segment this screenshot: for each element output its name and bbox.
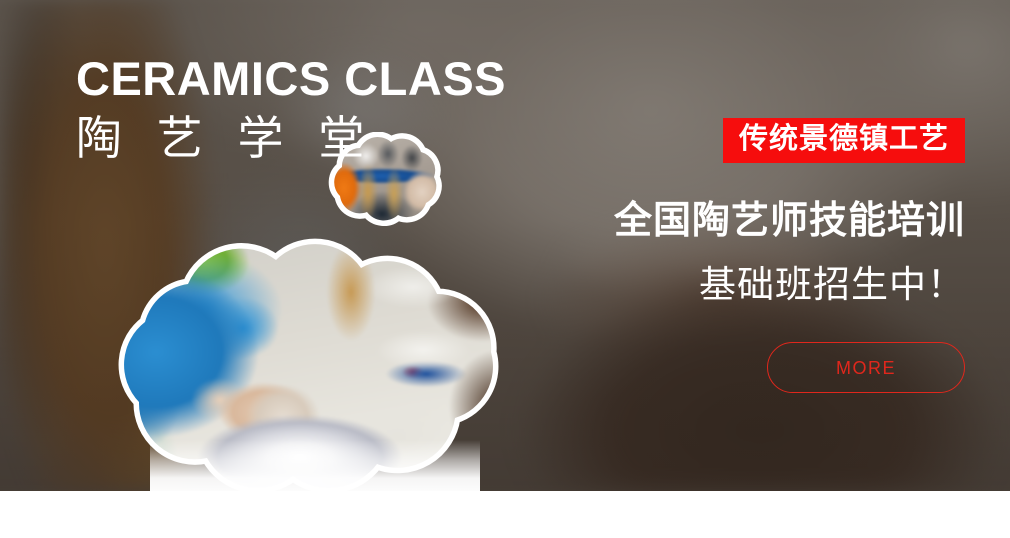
main-photo-image <box>68 232 538 512</box>
headline-primary: 全国陶艺师技能培训 <box>614 201 965 243</box>
title-block: CERAMICS CLASS 陶 艺 学 堂 <box>76 55 506 167</box>
headline-secondary: 基础班招生中！ <box>614 265 965 306</box>
title-english: CERAMICS CLASS <box>76 55 506 103</box>
main-cloud-photo-frame <box>68 232 538 512</box>
main-cloud-svg <box>68 232 538 512</box>
promo-block: 传统景德镇工艺 全国陶艺师技能培训 基础班招生中！ MORE <box>614 118 965 393</box>
more-button[interactable]: MORE <box>767 342 965 393</box>
ceramics-class-banner: CERAMICS CLASS 陶 艺 学 堂 传统景德镇工艺 全国陶艺师技能培训… <box>0 0 1010 538</box>
status-badge: 传统景德镇工艺 <box>723 118 965 163</box>
title-chinese: 陶 艺 学 堂 <box>76 110 506 168</box>
